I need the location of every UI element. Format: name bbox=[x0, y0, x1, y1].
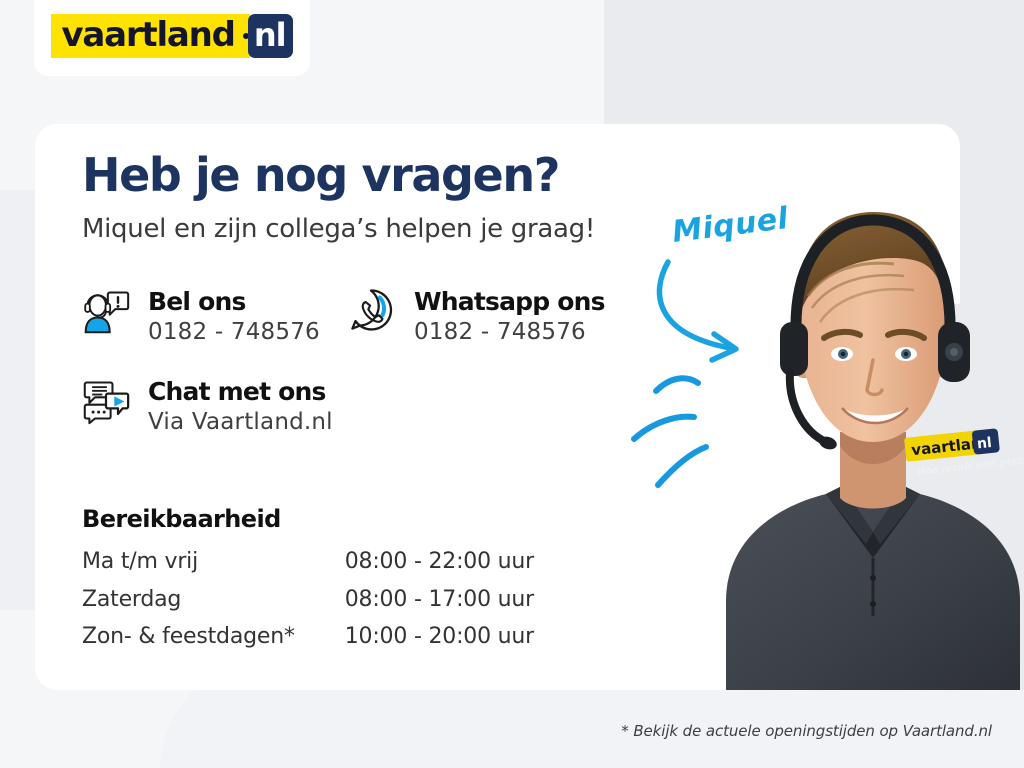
table-row: Zaterdag 08:00 - 17:00 uur bbox=[82, 586, 534, 624]
availability-day-0: Ma t/m vrij bbox=[82, 548, 345, 586]
contact-chat-title: Chat met ons bbox=[148, 377, 326, 406]
contact-call[interactable]: Bel ons 0182 - 748576 bbox=[82, 286, 320, 345]
availability-time-2: 10:00 - 20:00 uur bbox=[345, 623, 534, 661]
logo-wordmark: vaartland bbox=[51, 14, 242, 58]
whatsapp-icon bbox=[348, 286, 396, 336]
brand-logo[interactable]: vaartland nl bbox=[34, 0, 310, 76]
contact-whatsapp-value: 0182 - 748576 bbox=[414, 320, 605, 345]
svg-text:nl: nl bbox=[976, 435, 992, 452]
chat-bubbles-icon bbox=[82, 376, 130, 426]
availability-table: Ma t/m vrij 08:00 - 22:00 uur Zaterdag 0… bbox=[82, 548, 534, 661]
logo-tld: nl bbox=[248, 14, 293, 58]
availability-time-0: 08:00 - 22:00 uur bbox=[345, 548, 534, 586]
table-row: Zon- & feestdagen* 10:00 - 20:00 uur bbox=[82, 623, 534, 661]
contact-whatsapp-title: Whatsapp ons bbox=[414, 287, 605, 316]
contact-call-title: Bel ons bbox=[148, 287, 246, 316]
contact-call-value: 0182 - 748576 bbox=[148, 320, 320, 345]
contact-chat[interactable]: Chat met ons Via Vaartland.nl bbox=[82, 376, 333, 435]
headset-person-icon bbox=[82, 286, 130, 336]
footnote: * Bekijk de actuele openingstijden op Va… bbox=[621, 722, 992, 740]
accent-strokes-icon bbox=[630, 355, 740, 495]
contact-whatsapp[interactable]: Whatsapp ons 0182 - 748576 bbox=[348, 286, 605, 345]
page-subtitle: Miquel en zijn collega’s helpen je graag… bbox=[82, 214, 595, 244]
table-row: Ma t/m vrij 08:00 - 22:00 uur bbox=[82, 548, 534, 586]
availability-day-2: Zon- & feestdagen* bbox=[82, 623, 345, 661]
contact-chat-value: Via Vaartland.nl bbox=[148, 410, 333, 435]
shirt-logo: vaartland nl doe jezelf een plezier bbox=[904, 428, 1024, 478]
availability-title: Bereikbaarheid bbox=[82, 505, 281, 533]
availability-time-1: 08:00 - 17:00 uur bbox=[345, 586, 534, 624]
page-title: Heb je nog vragen? bbox=[82, 152, 559, 198]
availability-day-1: Zaterdag bbox=[82, 586, 345, 624]
